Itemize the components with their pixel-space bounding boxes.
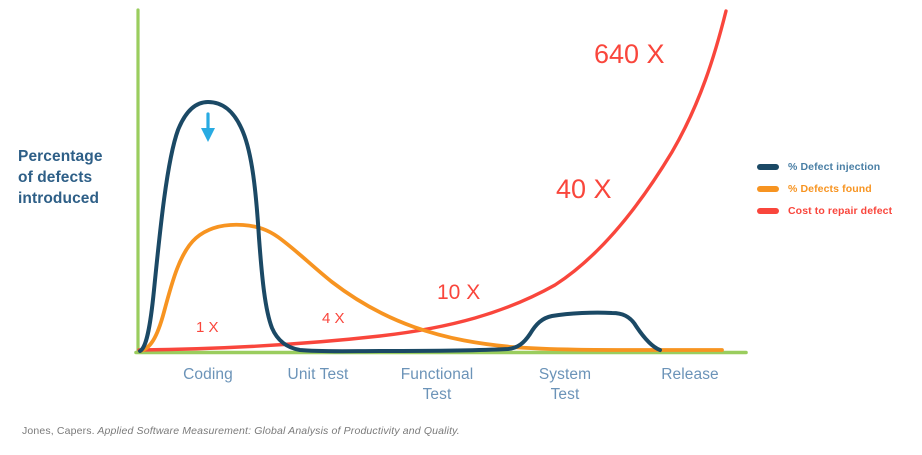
series-line-defects-found bbox=[140, 225, 722, 351]
annotation-1x: 1 X bbox=[196, 319, 219, 336]
legend-item-defect-injection[interactable]: % Defect injection bbox=[757, 156, 922, 178]
y-axis-label-line-3: introduced bbox=[18, 188, 130, 209]
x-tick-system-test-line-1: System bbox=[515, 365, 615, 385]
x-tick-coding: Coding bbox=[158, 365, 258, 385]
legend-label-cost-to-repair: Cost to repair defect bbox=[788, 205, 892, 217]
y-axis-label-line-1: Percentage bbox=[18, 146, 130, 167]
peak-indicator-arrow-icon bbox=[201, 114, 215, 142]
x-tick-coding-line-1: Coding bbox=[158, 365, 258, 385]
x-tick-functional-test: Functional Test bbox=[382, 365, 492, 405]
legend-swatch-cost-to-repair bbox=[757, 208, 779, 214]
legend-item-defects-found[interactable]: % Defects found bbox=[757, 178, 922, 200]
x-tick-system-test-line-2: Test bbox=[515, 385, 615, 405]
x-tick-release-line-1: Release bbox=[638, 365, 742, 385]
x-tick-release: Release bbox=[638, 365, 742, 385]
legend-item-cost-to-repair[interactable]: Cost to repair defect bbox=[757, 200, 922, 222]
legend-label-defects-found: % Defects found bbox=[788, 183, 872, 195]
y-axis-label-line-2: of defects bbox=[18, 167, 130, 188]
citation-author: Jones, Capers. bbox=[22, 425, 95, 437]
defect-cost-chart: Percentage of defects introduced Coding … bbox=[0, 0, 922, 455]
legend-swatch-defect-injection bbox=[757, 164, 779, 170]
x-tick-functional-test-line-2: Test bbox=[382, 385, 492, 405]
x-tick-system-test: System Test bbox=[515, 365, 615, 405]
citation-work: Applied Software Measurement: Global Ana… bbox=[97, 425, 459, 437]
x-tick-unit-test-line-1: Unit Test bbox=[268, 365, 368, 385]
x-tick-unit-test: Unit Test bbox=[268, 365, 368, 385]
annotation-4x: 4 X bbox=[322, 310, 345, 327]
legend-label-defect-injection: % Defect injection bbox=[788, 161, 880, 173]
source-citation: Jones, Capers. Applied Software Measurem… bbox=[22, 425, 460, 437]
x-tick-functional-test-line-1: Functional bbox=[382, 365, 492, 385]
annotation-10x: 10 X bbox=[437, 281, 480, 305]
legend-swatch-defects-found bbox=[757, 186, 779, 192]
annotation-40x: 40 X bbox=[556, 174, 612, 205]
y-axis-label: Percentage of defects introduced bbox=[18, 146, 130, 209]
chart-legend: % Defect injection % Defects found Cost … bbox=[757, 156, 922, 222]
annotation-640x: 640 X bbox=[594, 39, 665, 70]
